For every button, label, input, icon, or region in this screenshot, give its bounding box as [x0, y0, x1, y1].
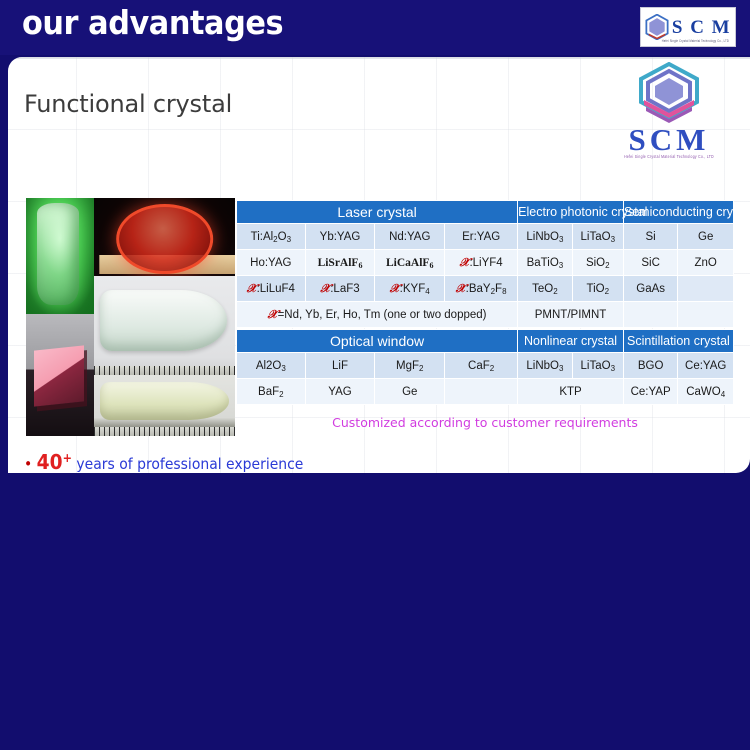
table-cell-empty — [623, 302, 677, 328]
table-cell: MgF2 — [375, 353, 445, 379]
table-cell: LiNbO3 — [518, 353, 572, 379]
photo-yellow-crystal-boule-with-ruler — [94, 375, 235, 436]
table-cell: Ce:YAP — [623, 379, 677, 405]
table-cell: BaF2 — [237, 379, 306, 405]
page-title: Functional crystal — [24, 90, 232, 118]
table-cell: Ce:YAG — [678, 353, 734, 379]
table-cell: LiSrAlF6 — [305, 250, 375, 276]
table-cell: Si — [623, 224, 677, 250]
dopant-note-cell: 𝒳=Nd, Yb, Er, Ho, Tm (one or two dopped) — [237, 302, 518, 328]
table-cell: YAG — [305, 379, 375, 405]
table-header-laser-crystal: Laser crystal — [237, 201, 518, 224]
table-cell: ZnO — [678, 250, 734, 276]
experience-tagline: • 40+ years of professional experience — [24, 450, 303, 473]
ruler-graphic — [94, 427, 235, 436]
table-cell: LiF — [305, 353, 375, 379]
table-cell: Ho:YAG — [237, 250, 306, 276]
card-logo-text: SCM — [609, 125, 729, 154]
table-cell: LiTaO3 — [572, 353, 623, 379]
table-cell-empty — [445, 379, 518, 405]
table-header-electro-photonic-crystal: Electro photonic crystal — [518, 201, 624, 224]
table-cell: Er:YAG — [445, 224, 518, 250]
experience-years: 40 — [37, 450, 63, 473]
photo-red-crystal-disc — [94, 198, 235, 276]
table-cell: LiTaO3 — [572, 224, 623, 250]
bullet-icon: • — [24, 455, 32, 473]
photo-green-glowing-crystal-boule — [26, 198, 94, 314]
table-row: BaF2 YAG Ge KTP Ce:YAP CaWO4 — [237, 379, 734, 405]
table-row: Al2O3 LiF MgF2 CaF2 LiNbO3 LiTaO3 BGO Ce… — [237, 353, 734, 379]
table-cell: CaWO4 — [678, 379, 734, 405]
crystal-types-table-top: Laser crystal Electro photonic crystal S… — [236, 200, 734, 328]
experience-text: years of professional experience — [76, 455, 303, 473]
table-header-scintillation-crystal: Scintillation crystal — [623, 330, 733, 353]
header-logo: S C M Hefei Single Crystal Material Tech… — [640, 7, 736, 47]
table-cell: BGO — [623, 353, 677, 379]
table-cell: 𝒳:LiLuF4 — [237, 276, 306, 302]
card-top-rule — [8, 57, 750, 59]
card-logo-subtext: Hefei Single Crystal Material Technology… — [609, 155, 729, 160]
table-row: 𝒳:LiLuF4 𝒳:LaF3 𝒳:KYF4 𝒳:BaY2F8 TeO2 TiO… — [237, 276, 734, 302]
table-cell: CaF2 — [445, 353, 518, 379]
table-cell-empty — [678, 276, 734, 302]
customization-note: Customized according to customer require… — [236, 415, 734, 430]
table-cell: LiCaAlF6 — [375, 250, 445, 276]
table-cell: 𝒳:BaY2F8 — [445, 276, 518, 302]
table-cell: 𝒳:KYF4 — [375, 276, 445, 302]
table-header-row: Optical window Nonlinear crystal Scintil… — [237, 330, 734, 353]
table-header-optical-window: Optical window — [237, 330, 518, 353]
table-row: 𝒳=Nd, Yb, Er, Ho, Tm (one or two dopped)… — [237, 302, 734, 328]
header-logo-subtext: Hefei Single Crystal Material Technology… — [662, 40, 729, 44]
table-cell: Ge — [375, 379, 445, 405]
content-card: Functional crystal SCM Hefei Single Crys… — [8, 57, 750, 473]
photo-clear-crystal-boule-with-ruler — [94, 276, 235, 375]
table-header-row: Laser crystal Electro photonic crystal S… — [237, 201, 734, 224]
ruler-graphic — [94, 366, 235, 375]
table-cell: TiO2 — [572, 276, 623, 302]
hexagon-logo-icon — [645, 14, 669, 40]
table-cell: BaTiO3 — [518, 250, 572, 276]
hexagon-logo-icon — [635, 62, 703, 124]
photo-pink-crystal-block — [26, 314, 94, 436]
table-cell: LiNbO3 — [518, 224, 572, 250]
crystal-photo-collage — [26, 198, 235, 436]
table-cell: Yb:YAG — [305, 224, 375, 250]
table-row: Ti:Al2O3 Yb:YAG Nd:YAG Er:YAG LiNbO3 LiT… — [237, 224, 734, 250]
table-cell: Nd:YAG — [375, 224, 445, 250]
table-cell: SiC — [623, 250, 677, 276]
table-cell: 𝒳:LiYF4 — [445, 250, 518, 276]
table-cell-empty — [678, 302, 734, 328]
table-cell: 𝒳:LaF3 — [305, 276, 375, 302]
card-logo: SCM Hefei Single Crystal Material Techno… — [609, 62, 729, 147]
plus-sign: + — [63, 451, 72, 465]
table-cell: TeO2 — [518, 276, 572, 302]
table-cell: Ge — [678, 224, 734, 250]
header-logo-text: S C M — [672, 18, 731, 37]
table-row: Ho:YAG LiSrAlF6 LiCaAlF6 𝒳:LiYF4 BaTiO3 … — [237, 250, 734, 276]
page-header-bar: our advantages S C M Hefei Single Crysta… — [0, 0, 750, 55]
table-header-semiconducting-crystal: Semiconducting crystal — [623, 201, 733, 224]
table-cell: Al2O3 — [237, 353, 306, 379]
table-cell: Ti:Al2O3 — [237, 224, 306, 250]
table-header-nonlinear-crystal: Nonlinear crystal — [518, 330, 624, 353]
page-header-title: our advantages — [22, 3, 283, 42]
crystal-types-table-bottom: Optical window Nonlinear crystal Scintil… — [236, 329, 734, 405]
table-cell: SiO2 — [572, 250, 623, 276]
page-background-lower — [0, 473, 750, 750]
table-cell-ktp: KTP — [518, 379, 624, 405]
table-cell: GaAs — [623, 276, 677, 302]
table-cell-pmnt: PMNT/PIMNT — [518, 302, 624, 328]
